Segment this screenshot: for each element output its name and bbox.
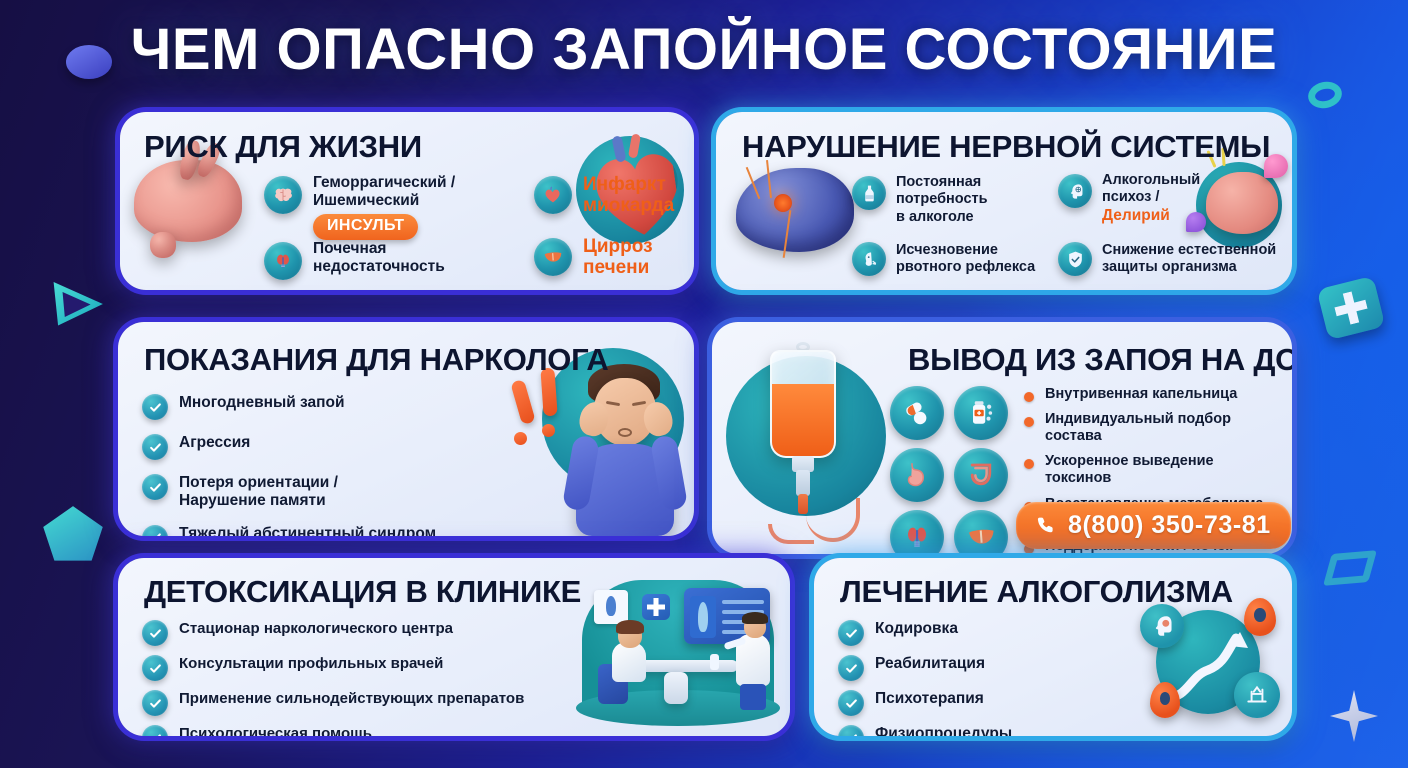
card-title-life-risk: РИСК ДЛЯ ЖИЗНИ <box>144 129 422 165</box>
star-decoration <box>1330 690 1378 742</box>
kidneys-icon <box>890 510 944 554</box>
list-clinic-detox: Стационар наркологического центра Консул… <box>142 620 572 736</box>
item-infarct-line1: Инфаркт <box>583 174 674 195</box>
liver-icon <box>954 510 1008 554</box>
list-item-label: Применение сильнодействующих препаратов <box>179 690 524 708</box>
bullet-dot-icon <box>1024 459 1034 469</box>
card-title-clinic-detox: ДЕТОКСИКАЦИЯ В КЛИНИКЕ <box>144 574 581 610</box>
list-item-label: Физиопроцедуры <box>875 725 1012 736</box>
neuron-brain-illustration <box>722 154 862 264</box>
list-item-label: Психологическая помощь <box>179 725 372 736</box>
item-psychosis-line2: психоз / <box>1102 189 1200 206</box>
list-item: Потеря ориентации / Нарушение памяти <box>142 474 502 511</box>
list-item: Психологическая помощь <box>142 725 572 736</box>
kidneys-icon <box>264 242 302 280</box>
item-alcoholic-psychosis: Алкогольный психоз / Делирий <box>1058 172 1200 225</box>
item-craving-line1: Постоянная <box>896 174 988 191</box>
clinic-consultation-illustration <box>568 568 786 730</box>
card-narcologist-indications: ПОКАЗАНИЯ ДЛЯ НАРКОЛОГА Многодневный зап… <box>118 322 694 536</box>
brain-icon <box>264 176 302 214</box>
bullet-dot-icon <box>1024 417 1034 427</box>
bottle-icon <box>852 176 886 210</box>
item-stroke-line1: Геморрагический / <box>313 174 455 192</box>
item-cirrhosis-line2: печени <box>583 257 653 278</box>
list-item-label: Ускоренное выведение токсинов <box>1045 453 1274 487</box>
check-icon <box>142 394 168 420</box>
shield-check-icon <box>1058 242 1092 276</box>
item-cirrhosis: Цирроз печени <box>534 236 653 279</box>
item-vomit-line1: Исчезновение <box>896 242 1035 259</box>
list-item-label: Кодировка <box>875 620 958 638</box>
list-item: Ускоренное выведение токсинов <box>1024 453 1274 487</box>
card-title-home-detox: ВЫВОД ИЗ ЗАПОЯ НА ДОМУ <box>908 342 1292 378</box>
item-psychosis-line1: Алкогольный <box>1102 172 1200 189</box>
list-item-label: Агрессия <box>179 434 250 452</box>
list-item-label: Реабилитация <box>875 655 985 673</box>
list-item-label: Тяжелый абстинентный синдром <box>179 525 436 536</box>
list-item: Многодневный запой <box>142 394 502 420</box>
list-item: Индивидуальный подбор состава <box>1024 411 1274 445</box>
list-item-label: Стационар наркологического центра <box>179 620 453 638</box>
pentagon-decoration <box>42 505 104 563</box>
iv-drip-illustration <box>722 338 902 550</box>
head-brain-icon <box>1058 174 1092 208</box>
list-item-label: Консультации профильных врачей <box>179 655 443 673</box>
item-craving-line3: в алкоголе <box>896 209 988 226</box>
item-myocardial-infarction: Инфаркт миокарда <box>534 174 674 217</box>
check-icon <box>838 690 864 716</box>
check-icon <box>838 620 864 646</box>
intestines-icon <box>954 448 1008 502</box>
head-brain-bubble-icon <box>1140 604 1184 648</box>
item-vomit-reflex: Исчезновение рвотного рефлекса <box>852 242 1035 277</box>
physiotherapy-bubble-icon <box>1234 672 1280 718</box>
check-icon <box>142 725 168 736</box>
list-item-label: Психотерапия <box>875 690 984 708</box>
item-craving-line2: потребность <box>896 191 988 208</box>
item-immunity-line2: защиты организма <box>1102 259 1276 276</box>
check-icon <box>142 690 168 716</box>
list-item-label: Индивидуальный подбор состава <box>1045 411 1274 445</box>
list-item-label: Потеря ориентации / Нарушение памяти <box>179 474 338 511</box>
card-home-detox: ВЫВОД ИЗ ЗАПОЯ НА ДОМУ Внутривенная капе… <box>712 322 1292 554</box>
triangle-decoration <box>48 278 104 328</box>
liver-icon <box>534 238 572 276</box>
check-icon <box>838 655 864 681</box>
item-renal-line2: недостаточность <box>313 258 445 276</box>
item-infarct-line2: миокарда <box>583 195 674 216</box>
list-narcologist-indications: Многодневный запой Агрессия Потеря ориен… <box>142 394 502 536</box>
item-renal-line1: Почечная <box>313 240 445 258</box>
card-alcoholism-treatment: ЛЕЧЕНИЕ АЛКОГОЛИЗМА Кодировка Реабилитац… <box>814 558 1292 736</box>
check-icon <box>142 620 168 646</box>
ring-decoration <box>1306 79 1345 112</box>
card-life-risk: РИСК ДЛЯ ЖИЗНИ Геморрагический / Ишемиче… <box>120 112 694 290</box>
list-item: Консультации профильных врачей <box>142 655 572 681</box>
medicine-bottle-icon <box>954 386 1008 440</box>
recovery-path-illustration <box>1132 598 1282 728</box>
item-renal-failure: Почечная недостаточность <box>264 240 445 280</box>
list-item: Реабилитация <box>838 655 1088 681</box>
page-title: ЧЕМ ОПАСНО ЗАПОЙНОЕ СОСТОЯНИЕ <box>0 16 1408 83</box>
list-item: Применение сильнодействующих препаратов <box>142 690 572 716</box>
card-title-narcologist: ПОКАЗАНИЯ ДЛЯ НАРКОЛОГА <box>144 342 609 378</box>
item-alcohol-craving: Постоянная потребность в алкоголе <box>852 174 988 226</box>
list-item: Психотерапия <box>838 690 1088 716</box>
phone-number: 8(800) 350-73-81 <box>1068 511 1271 540</box>
heart-icon <box>534 176 572 214</box>
list-item: Кодировка <box>838 620 1088 646</box>
card-nervous-system: НАРУШЕНИЕ НЕРВНОЙ СИСТЕМЫ Постоянная пот… <box>716 112 1292 290</box>
list-item: Агрессия <box>142 434 502 460</box>
list-item: Физиопроцедуры <box>838 725 1088 736</box>
item-stroke-pill: ИНСУЛЬТ <box>313 214 418 240</box>
list-item-label: Многодневный запой <box>179 394 345 412</box>
medical-cross-decoration <box>1317 276 1386 340</box>
item-immunity-decline: Снижение естественной защиты организма <box>1058 242 1276 277</box>
bullet-dot-icon <box>1024 392 1034 402</box>
item-delirium-accent: Делирий <box>1102 207 1200 226</box>
check-icon <box>142 655 168 681</box>
vomit-reflex-icon <box>852 242 886 276</box>
check-icon <box>838 725 864 736</box>
list-item: Внутривенная капельница <box>1024 386 1274 403</box>
list-item: Стационар наркологического центра <box>142 620 572 646</box>
card-clinic-detox: ДЕТОКСИКАЦИЯ В КЛИНИКЕ Стационар нарколо… <box>118 558 790 736</box>
check-icon <box>142 525 168 536</box>
item-cirrhosis-line1: Цирроз <box>583 236 653 257</box>
list-item: Тяжелый абстинентный синдром <box>142 525 502 536</box>
card-title-alcoholism-treatment: ЛЕЧЕНИЕ АЛКОГОЛИЗМА <box>840 574 1233 610</box>
list-alcoholism-treatment: Кодировка Реабилитация Психотерапия Физи… <box>838 620 1088 736</box>
stomach-icon <box>890 448 944 502</box>
square-outline-decoration <box>1323 550 1377 586</box>
check-icon <box>142 434 168 460</box>
item-vomit-line2: рвотного рефлекса <box>896 259 1035 276</box>
item-immunity-line1: Снижение естественной <box>1102 242 1276 259</box>
phone-icon <box>1036 515 1057 536</box>
check-icon <box>142 474 168 500</box>
item-stroke: Геморрагический / Ишемический ИНСУЛЬТ <box>264 174 455 240</box>
card-title-nervous-system: НАРУШЕНИЕ НЕРВНОЙ СИСТЕМЫ <box>742 129 1270 165</box>
phone-call-button[interactable]: 8(800) 350-73-81 <box>1016 502 1291 549</box>
item-stroke-line2: Ишемический <box>313 192 455 210</box>
pills-icon <box>890 386 944 440</box>
organ-icon-grid <box>890 386 1008 554</box>
list-item-label: Внутривенная капельница <box>1045 386 1237 403</box>
